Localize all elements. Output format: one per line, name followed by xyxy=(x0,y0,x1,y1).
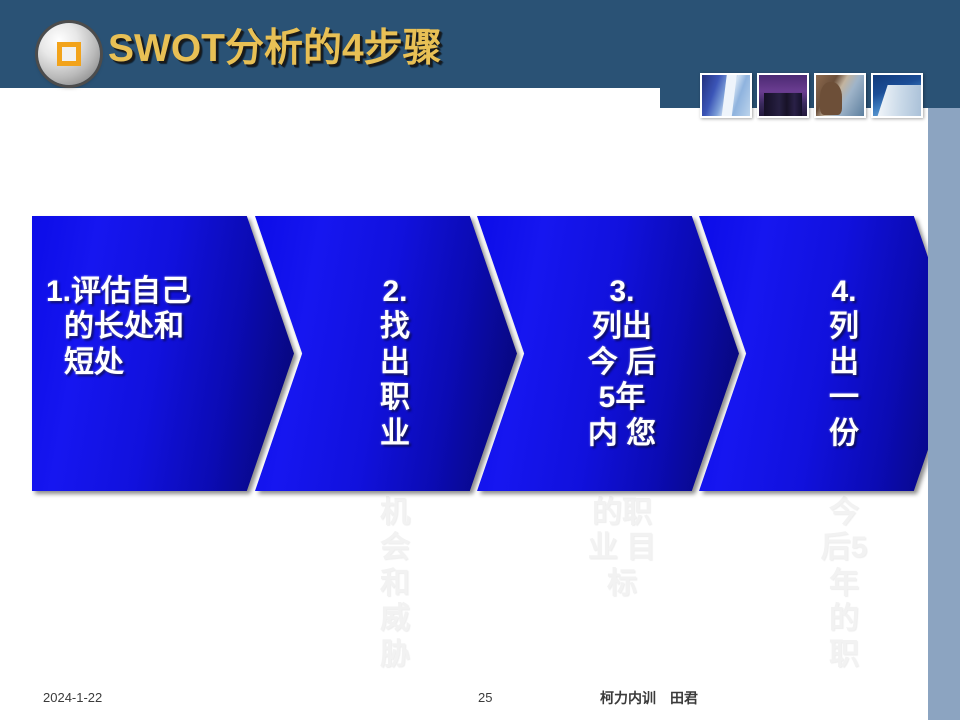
step-3-overflow-line-3: 标 xyxy=(577,566,667,601)
step-2-line-1: 2. xyxy=(373,274,417,309)
step-4-overflow-line-5: 职 xyxy=(819,637,869,672)
step-4-overflow-line-3: 年 xyxy=(819,566,869,601)
footer-date: 2024-1-22 xyxy=(43,690,102,705)
badge-inner-square xyxy=(57,42,81,66)
right-accent-bar xyxy=(928,108,960,720)
night-city-skyline-photo xyxy=(757,73,809,118)
process-step-4: 4. 列 出 一 份 xyxy=(699,216,960,491)
step-1-line-2: 的长处和 xyxy=(46,309,241,344)
step-2-line-2: 找 xyxy=(373,309,417,344)
step-2-line-5: 业 xyxy=(373,416,417,451)
step-2-overflow-line-3: 和 xyxy=(373,566,417,601)
step-3-line-2: 列出 xyxy=(577,309,667,344)
glass-office-tower-photo xyxy=(700,73,752,118)
step-1-line-3: 短处 xyxy=(46,345,241,380)
footer-page-number: 25 xyxy=(478,690,492,705)
step-4-line-3: 出 xyxy=(819,345,869,380)
process-step-1-text: 1.评估自己 的长处和 短处 xyxy=(46,274,241,380)
step-3-overflow-line-1: 的职 xyxy=(577,495,667,530)
step-3-line-3: 今 后 xyxy=(577,345,667,380)
step-4-line-2: 列 xyxy=(819,309,869,344)
process-step-3-text: 3. 列出 今 后 5年 内 您 xyxy=(577,274,667,451)
person-on-phone-photo xyxy=(814,73,866,118)
slide-footer: 2024-1-22 25 柯力内训 田君 xyxy=(0,680,960,720)
step-4-overflow-line-4: 的 xyxy=(819,601,869,636)
step-4-line-1: 4. xyxy=(819,274,869,309)
step-3-line-1: 3. xyxy=(577,274,667,309)
process-step-2-overflow-text: 机 会 和 威 胁 xyxy=(373,495,417,672)
step-3-line-4: 5年 xyxy=(577,380,667,415)
step-2-overflow-line-4: 威 xyxy=(373,601,417,636)
step-4-overflow-line-2: 后5 xyxy=(819,530,869,565)
step-4-line-4: 一 xyxy=(819,380,869,415)
page-title: SWOT分析的4步骤 xyxy=(108,17,442,73)
process-step-4-overflow-text: 今 后5 年 的 职 xyxy=(819,495,869,672)
white-modern-building-photo xyxy=(871,73,923,118)
step-1-line-1: 1.评估自己 xyxy=(46,275,191,308)
step-2-overflow-line-1: 机 xyxy=(373,495,417,530)
step-2-line-4: 职 xyxy=(373,380,417,415)
header-thumbnail-strip xyxy=(700,73,923,118)
step-3-line-5: 内 您 xyxy=(577,416,667,451)
step-3-overflow-line-2: 业 目 xyxy=(577,530,667,565)
process-step-2-text: 2. 找 出 职 业 xyxy=(373,274,417,451)
rounded-square-badge-icon xyxy=(38,23,100,85)
step-2-line-3: 出 xyxy=(373,345,417,380)
step-2-overflow-line-5: 胁 xyxy=(373,637,417,672)
process-step-3-overflow-text: 的职 业 目 标 xyxy=(577,495,667,601)
step-2-overflow-line-2: 会 xyxy=(373,530,417,565)
process-step-4-text: 4. 列 出 一 份 xyxy=(819,274,869,451)
process-chevron-row: 1.评估自己 的长处和 短处 2. 找 出 职 业 3. 列出 今 后 5年 内… xyxy=(0,216,960,491)
step-4-line-5: 份 xyxy=(819,416,869,451)
footer-center-text: 柯力内训 田君 xyxy=(600,688,698,708)
step-4-overflow-line-1: 今 xyxy=(819,495,869,530)
